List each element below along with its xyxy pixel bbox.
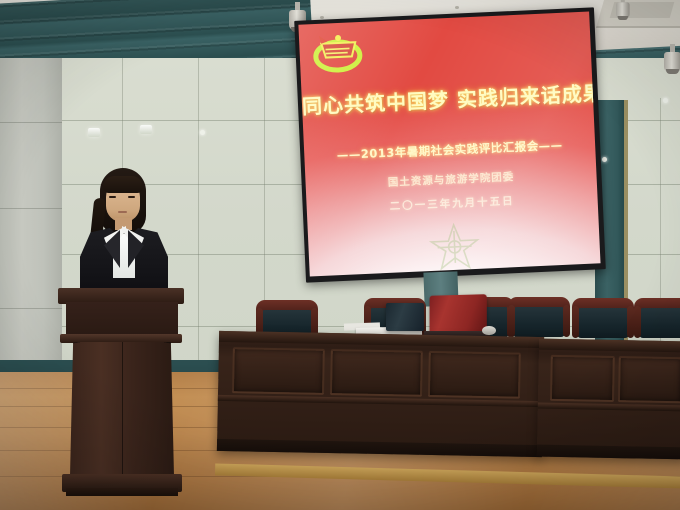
projection-screen: 同心共筑中国梦 实践归来话成果 ——2013年暑期社会实践评比汇报会—— 国土资… bbox=[294, 7, 606, 282]
star-watermark-emblem-icon bbox=[426, 222, 482, 272]
conference-table-left bbox=[217, 331, 544, 457]
wall-fixture bbox=[88, 128, 100, 137]
communist-youth-league-emblem-icon bbox=[311, 28, 369, 76]
conference-chair bbox=[634, 298, 680, 346]
hair-fringe bbox=[103, 176, 143, 193]
computer-mouse bbox=[482, 326, 496, 335]
conference-hall-photo: 同心共筑中国梦 实践归来话成果 ——2013年暑期社会实践评比汇报会—— 国土资… bbox=[0, 0, 680, 510]
wall-light-dot bbox=[602, 157, 607, 162]
dark-laptop bbox=[386, 303, 426, 337]
slide-date: 二〇一三年九月十五日 bbox=[306, 189, 597, 217]
ceiling-dot bbox=[320, 16, 324, 19]
wall-light-dot bbox=[663, 98, 668, 103]
podium-body bbox=[70, 342, 174, 476]
eye bbox=[109, 196, 116, 198]
slide-organization: 国土资源与旅游学院团委 bbox=[305, 165, 596, 193]
red-laptop bbox=[424, 295, 490, 339]
slide-main-title: 同心共筑中国梦 实践归来话成果 bbox=[301, 77, 593, 119]
wall-light-dot bbox=[200, 130, 205, 135]
conference-table-right bbox=[537, 339, 680, 460]
podium-base-plinth bbox=[66, 488, 178, 496]
wooden-speaking-podium bbox=[60, 288, 182, 503]
mouth bbox=[118, 211, 127, 213]
slide-surface: 同心共筑中国梦 实践归来话成果 ——2013年暑期社会实践评比汇报会—— 国土资… bbox=[298, 12, 600, 277]
slide-subtitle: ——2013年暑期社会实践评比汇报会—— bbox=[304, 135, 595, 164]
ceiling-dot bbox=[455, 6, 459, 9]
female-presenter bbox=[78, 168, 170, 298]
podium-neck bbox=[66, 302, 178, 336]
wall-fixture bbox=[140, 125, 152, 134]
podium-lip bbox=[60, 334, 182, 343]
eye bbox=[128, 196, 135, 198]
